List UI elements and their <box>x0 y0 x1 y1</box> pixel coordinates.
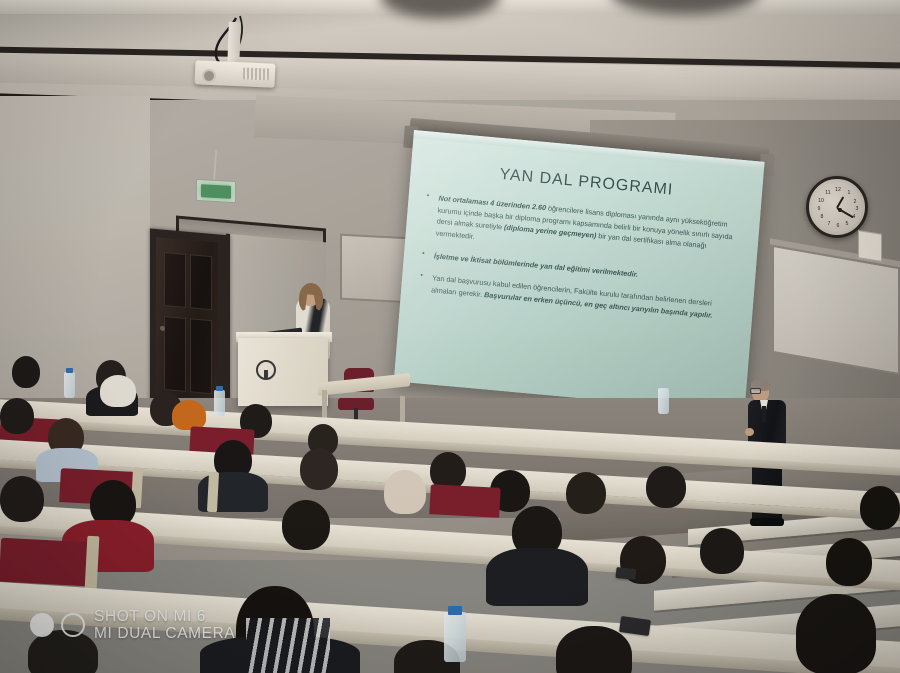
water-bottle-cap <box>216 386 223 391</box>
wall-clock: 12 1 2 3 4 5 6 7 8 9 10 11 <box>806 176 868 238</box>
water-bottle-cap <box>66 368 73 373</box>
lecturer-hand <box>745 428 754 436</box>
ceiling-shadow <box>380 0 500 18</box>
clock-center-pin <box>838 208 842 212</box>
clock-number-10: 10 <box>817 197 825 205</box>
clock-number-9: 9 <box>815 205 823 213</box>
audience-beanie <box>172 400 206 430</box>
door-panel <box>164 316 186 392</box>
water-bottle <box>64 372 75 398</box>
water-bottle <box>658 388 669 414</box>
clock-face: 12 1 2 3 4 5 6 7 8 9 10 11 <box>812 182 862 232</box>
audience-head <box>860 486 900 530</box>
seat <box>429 484 500 518</box>
presentation-slide: YAN DAL PROGRAMI Not ortalaması 4 üzerin… <box>394 138 764 413</box>
clock-number-6: 6 <box>834 222 842 230</box>
bullet-2-emphasis: İşletme ve İktisat bölümlerinde yan dal … <box>434 251 639 279</box>
clock-number-8: 8 <box>818 213 826 221</box>
audience-head <box>646 466 686 508</box>
audience-head-front <box>28 630 98 673</box>
clock-number-5: 5 <box>843 220 851 228</box>
water-bottle-cap <box>448 606 462 615</box>
audience-head <box>826 538 872 586</box>
clock-number-12: 12 <box>834 186 842 194</box>
lectern <box>238 338 328 406</box>
audience-head <box>12 356 40 388</box>
audience-head-front <box>556 626 632 673</box>
audience-head <box>566 472 606 514</box>
projector-vent <box>243 67 269 80</box>
exit-sign-label <box>201 184 231 199</box>
audience-head <box>300 448 338 490</box>
audience-jacket-pattern <box>246 618 330 673</box>
audience-head <box>0 398 34 434</box>
lecture-hall-photo: YAN DAL PROGRAMI Not ortalaması 4 üzerin… <box>0 0 900 673</box>
lecturer-shoes <box>750 518 784 526</box>
clock-number-11: 11 <box>824 189 832 197</box>
audience-hair-blonde <box>384 470 426 514</box>
door-handle[interactable] <box>160 326 165 331</box>
water-bottle <box>214 390 225 416</box>
exit-sign <box>196 179 236 203</box>
clock-number-1: 1 <box>845 189 853 197</box>
projection-screen: YAN DAL PROGRAMI Not ortalaması 4 üzerin… <box>394 130 765 413</box>
lecturer-glasses <box>750 388 761 394</box>
lecturer-necktie <box>762 406 766 422</box>
audience-head <box>700 528 744 574</box>
audience-head-front <box>796 594 876 673</box>
clock-number-3: 3 <box>853 205 861 213</box>
door-panel <box>164 252 186 308</box>
audience-body <box>486 548 588 606</box>
whiteboard-right <box>772 245 900 376</box>
clock-number-7: 7 <box>825 220 833 228</box>
seat-frame <box>207 472 219 512</box>
university-seal-logo <box>256 360 276 380</box>
slide-bullet-list: Not ortalaması 4 üzerinden 2.60 öğrencil… <box>417 191 744 323</box>
audience-headscarf <box>100 375 136 407</box>
audience-head <box>282 500 330 550</box>
door[interactable] <box>156 237 218 410</box>
wall-notice-paper <box>858 230 882 262</box>
seat <box>0 538 91 587</box>
seat-frame <box>85 536 100 591</box>
door-panel <box>190 318 212 394</box>
audience-head <box>0 476 44 522</box>
smartphone-on-desk[interactable] <box>615 567 636 580</box>
door-panel <box>190 254 212 310</box>
water-bottle-front <box>444 612 466 662</box>
